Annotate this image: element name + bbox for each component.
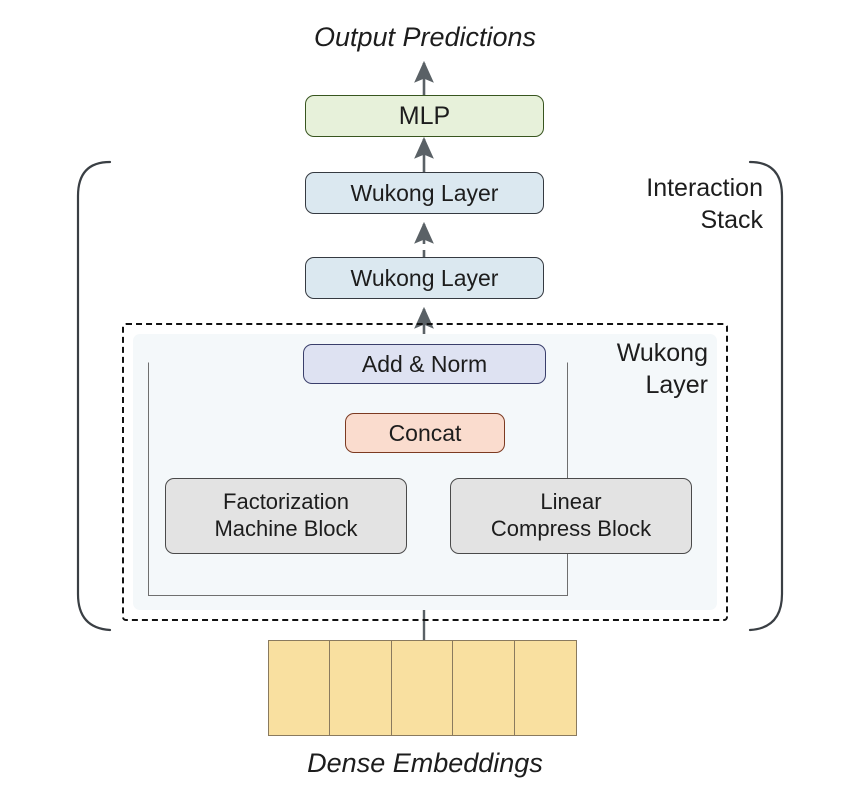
- node-mlp[interactable]: MLP: [305, 95, 544, 137]
- node-concat[interactable]: Concat: [345, 413, 505, 453]
- embedding-cell[interactable]: [514, 640, 577, 736]
- dense-embeddings-row: [268, 640, 575, 736]
- label-interaction-stack: Interaction Stack: [588, 172, 763, 236]
- embedding-cell[interactable]: [268, 640, 331, 736]
- node-wukong-layer-bottom[interactable]: Wukong Layer: [305, 257, 544, 299]
- embedding-cell[interactable]: [452, 640, 515, 736]
- diagram-canvas: MLP Wukong Layer Wukong Layer Add & Norm…: [0, 0, 850, 802]
- interaction-stack-bracket-left: [78, 162, 110, 630]
- embedding-cell[interactable]: [391, 640, 454, 736]
- label-dense-embeddings: Dense Embeddings: [0, 748, 850, 779]
- node-wukong-layer-top[interactable]: Wukong Layer: [305, 172, 544, 214]
- embedding-cell[interactable]: [329, 640, 392, 736]
- label-output-predictions: Output Predictions: [0, 22, 850, 53]
- node-add-and-norm[interactable]: Add & Norm: [303, 344, 546, 384]
- node-factorization-machine-block[interactable]: Factorization Machine Block: [165, 478, 407, 554]
- label-wukong-layer-group: Wukong Layer: [560, 337, 708, 401]
- node-linear-compress-block[interactable]: Linear Compress Block: [450, 478, 692, 554]
